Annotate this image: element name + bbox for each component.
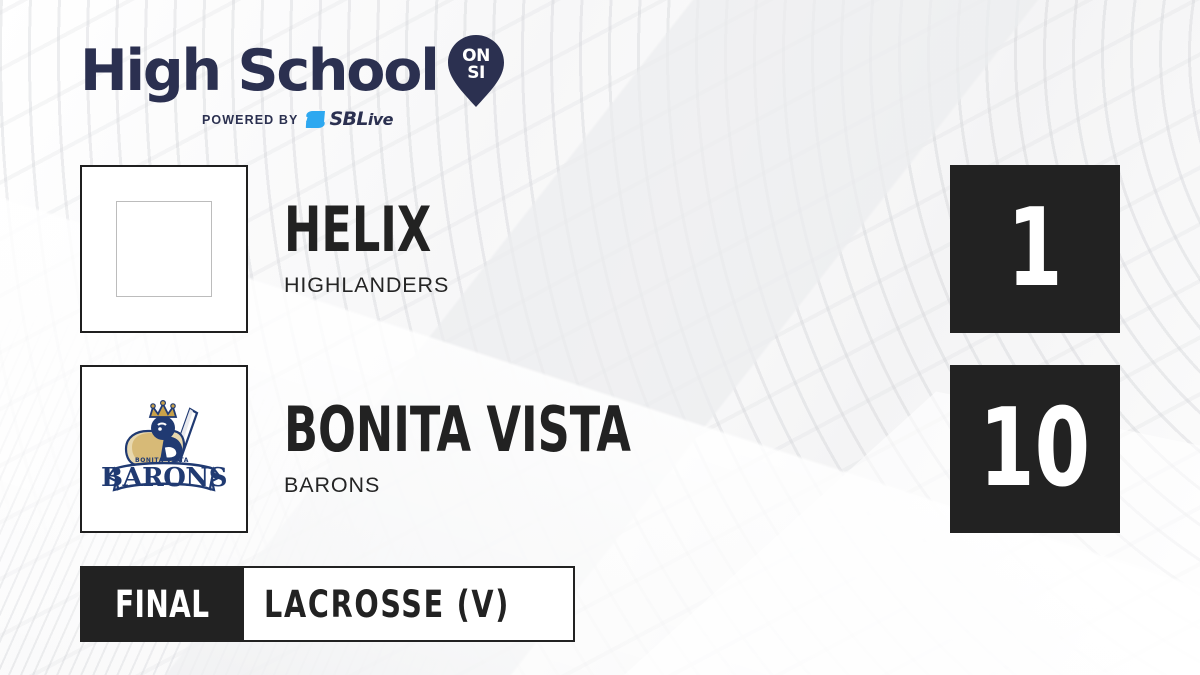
- team-name-helix: HELIX: [284, 200, 431, 261]
- team-mascot-bonita-vista: BARONS: [284, 473, 718, 498]
- powered-by-row: POWERED BY SBLive: [202, 110, 510, 129]
- team-row-away: HELIX HIGHLANDERS: [80, 165, 468, 333]
- on-si-pin-icon: ON SI: [446, 34, 506, 108]
- team-mascot-helix: HIGHLANDERS: [284, 273, 468, 298]
- status-badge-final: FINAL: [80, 566, 244, 642]
- team-info-bonita-vista: BONITA VISTA BARONS: [284, 400, 718, 498]
- brand-logo-row: High School ON SI: [80, 34, 510, 108]
- team-info-helix: HELIX HIGHLANDERS: [284, 200, 468, 298]
- team-logo-helix: [80, 165, 248, 333]
- scorecard: High School ON SI POWERED BY SBLive: [0, 0, 1200, 675]
- team-row-home: BONITA VISTA BARONS BONITA VISTA BARONS: [80, 365, 718, 533]
- barons-mascot-icon: BONITA VISTA BARONS: [102, 387, 226, 511]
- team-logo-bonita-vista: BONITA VISTA BARONS: [80, 365, 248, 533]
- brand-header: High School ON SI POWERED BY SBLive: [80, 34, 510, 129]
- sblive-wordmark-upper: SBL: [329, 108, 367, 130]
- status-final-label: FINAL: [115, 583, 209, 626]
- logo-placeholder-icon: [116, 201, 212, 297]
- score-box-bonita-vista: 10: [950, 365, 1120, 533]
- powered-by-label: POWERED BY: [202, 113, 298, 127]
- score-value-bonita-vista: 10: [980, 395, 1091, 503]
- svg-text:BARONS: BARONS: [102, 463, 226, 493]
- sblive-logo: SBLive: [305, 110, 392, 129]
- team-name-bonita-vista: BONITA VISTA: [284, 400, 631, 461]
- status-sport-label: LACROSSE (V): [264, 583, 510, 626]
- score-box-helix: 1: [950, 165, 1120, 333]
- score-value-helix: 1: [1007, 195, 1062, 303]
- status-sport-block: LACROSSE (V): [244, 566, 574, 642]
- svg-text:SI: SI: [467, 63, 485, 83]
- brand-wordmark: High School: [80, 43, 438, 100]
- game-status-bar: FINAL LACROSSE (V): [80, 566, 575, 642]
- sblive-s-icon: [305, 110, 326, 129]
- sblive-wordmark-lower: ive: [368, 110, 393, 129]
- sblive-wordmark: SBLive: [329, 110, 392, 129]
